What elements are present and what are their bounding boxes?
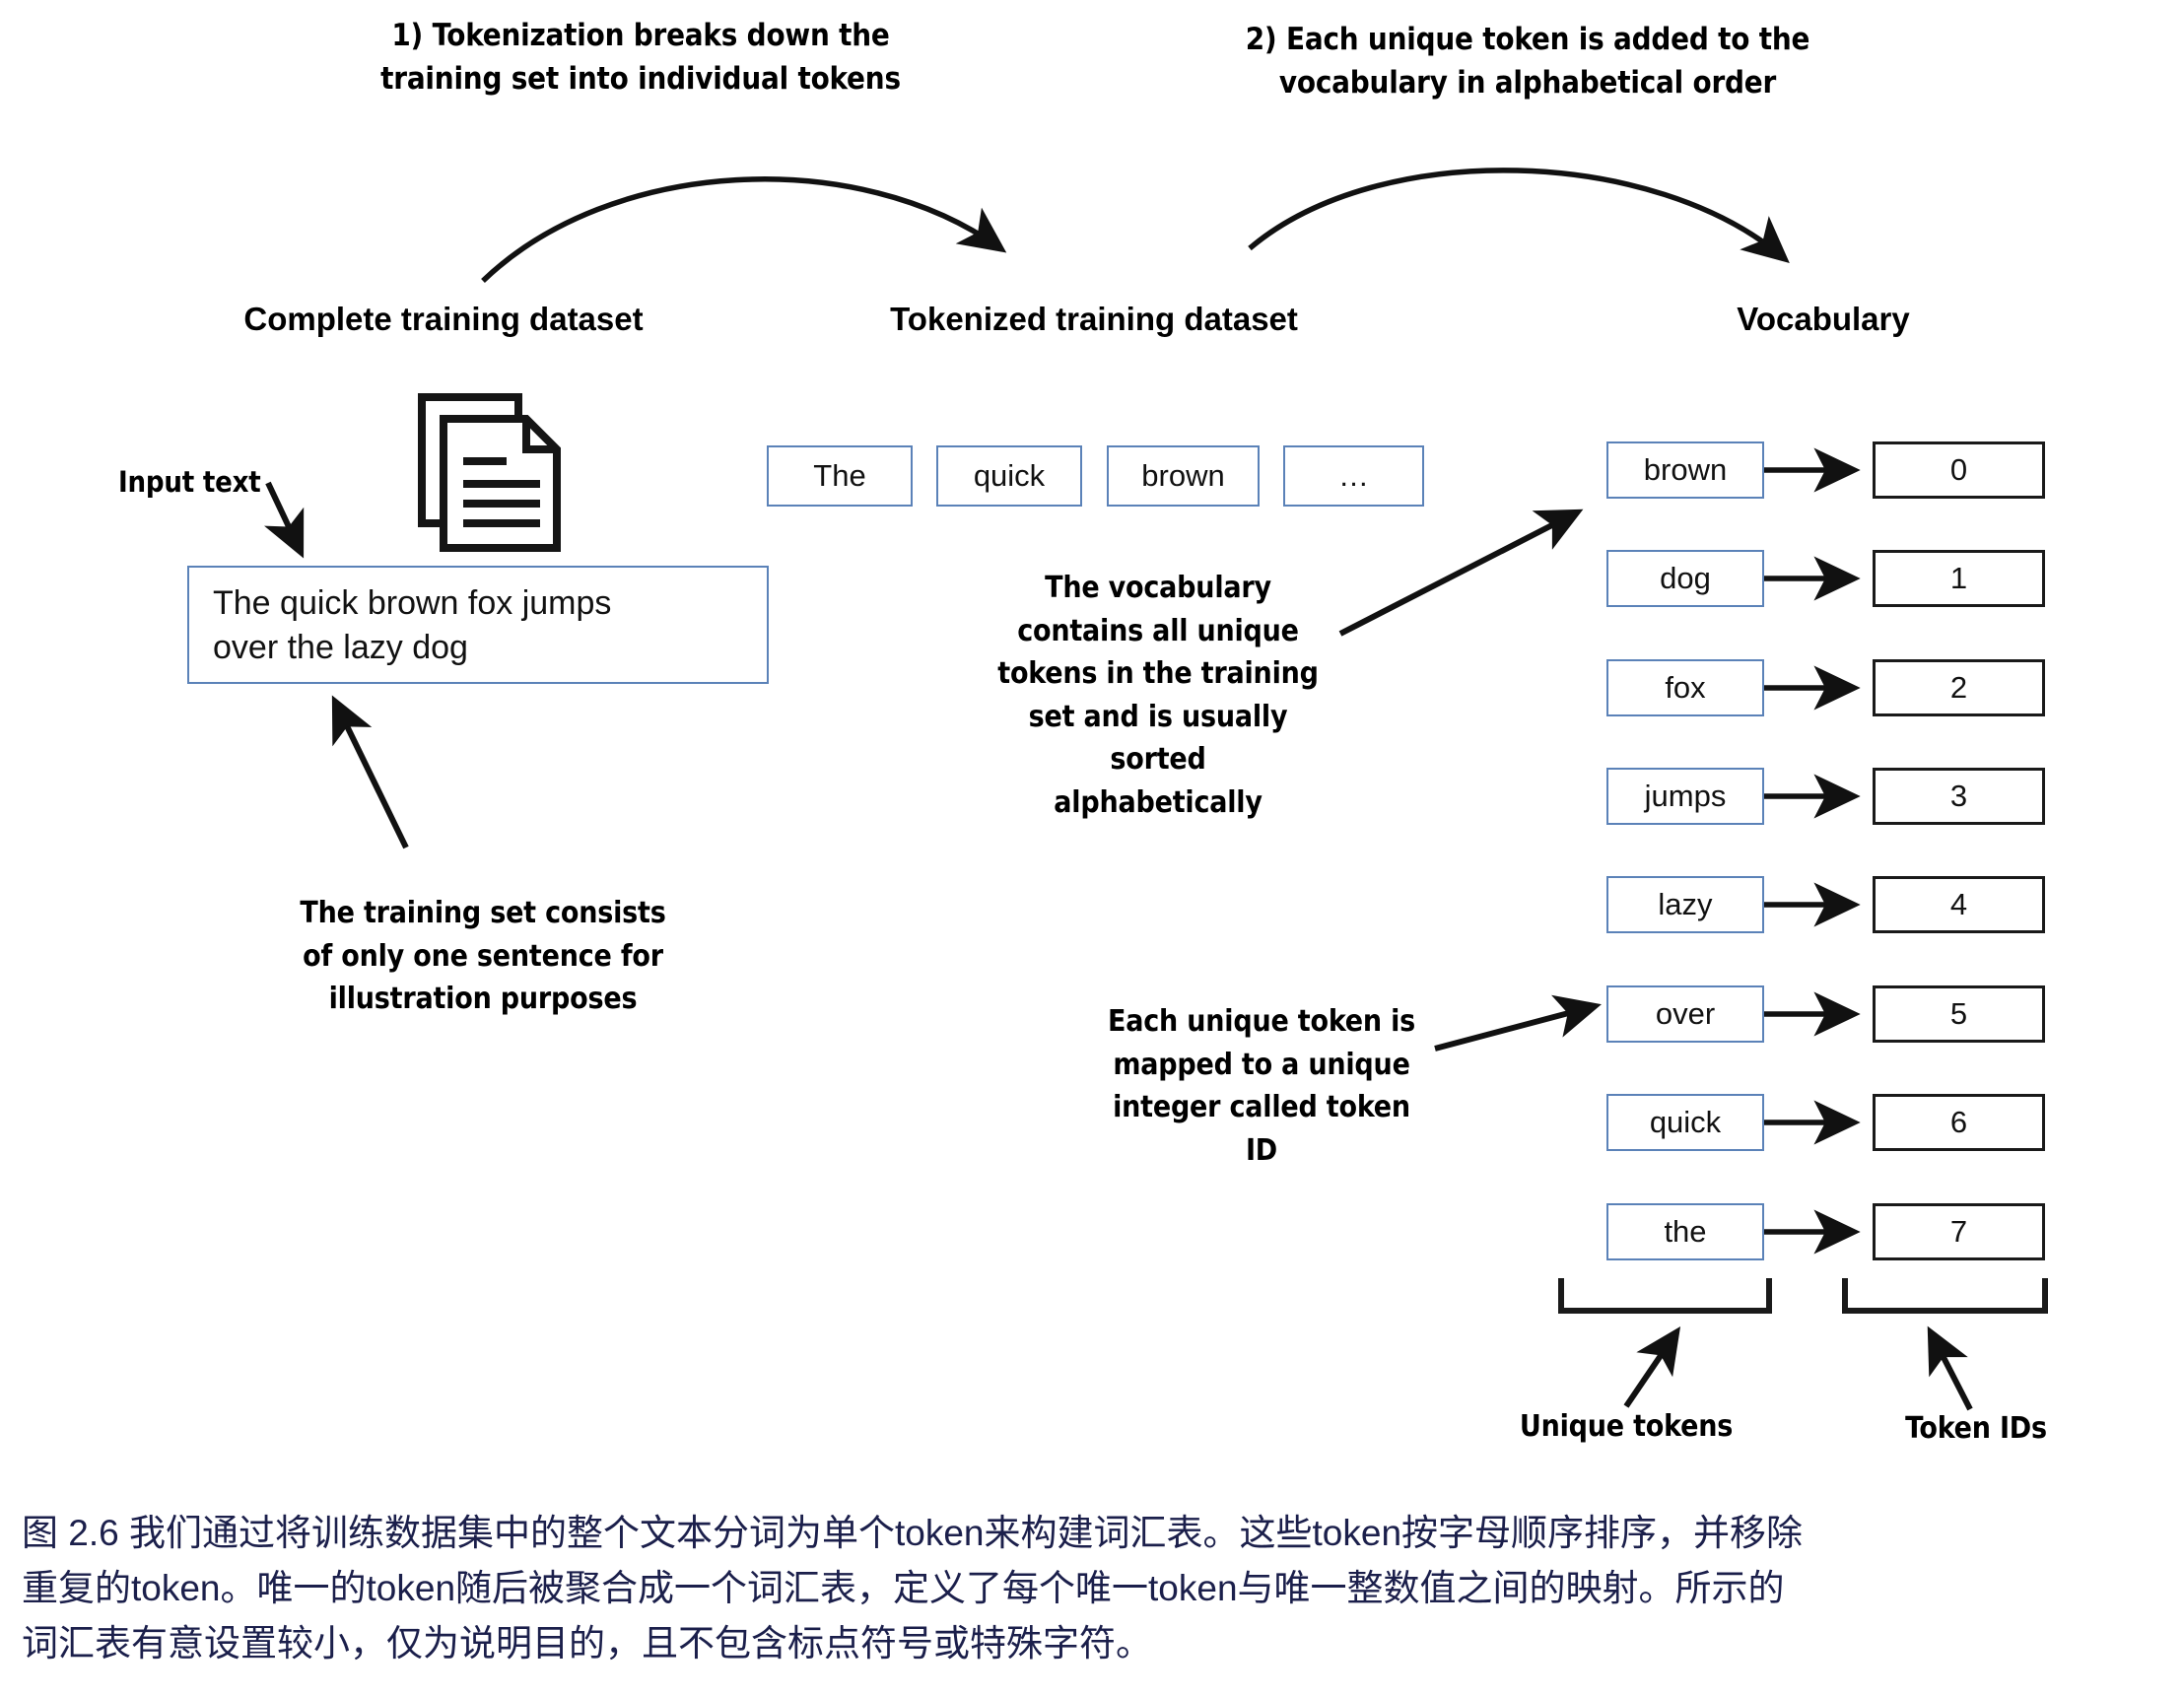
training-note-line-3: illustration purposes (246, 978, 719, 1021)
tokenid-note-line-1: Each unique token is (1069, 1000, 1454, 1044)
arrow-tokenid-note (1435, 1006, 1595, 1049)
vocab-token-6[interactable]: quick (1606, 1094, 1764, 1151)
training-note-line-1: The training set consists (246, 892, 719, 935)
step-1-line-2: training set into individual tokens (315, 57, 966, 101)
token-chip-2[interactable]: brown (1107, 445, 1260, 507)
input-text-line-1: The quick brown fox jumps (213, 581, 767, 626)
mapping-arrows (1764, 470, 1853, 1232)
figure-caption: 图 2.6 我们通过将训练数据集中的整个文本分词为单个token来构建词汇表。这… (22, 1506, 2170, 1672)
input-text-line-2: over the lazy dog (213, 626, 767, 670)
vocabulary-note: The vocabulary contains all unique token… (966, 567, 1350, 824)
vocab-token-2[interactable]: fox (1606, 659, 1764, 716)
tokenid-note-line-2: mapped to a unique (1069, 1044, 1454, 1087)
vocab-id-4[interactable]: 4 (1873, 876, 2045, 933)
bracket-token-ids (1845, 1278, 2045, 1311)
middle-column-title: Tokenized training dataset (788, 301, 1399, 338)
vocab-note-line-1: The vocabulary (966, 567, 1350, 610)
vocab-id-3[interactable]: 3 (1873, 768, 2045, 825)
tokenid-note-line-4: ID (1069, 1129, 1454, 1173)
vocab-id-6[interactable]: 6 (1873, 1094, 2045, 1151)
documents-icon (416, 392, 564, 555)
vocab-id-0[interactable]: 0 (1873, 441, 2045, 499)
caption-line-1: 图 2.6 我们通过将训练数据集中的整个文本分词为单个token来构建词汇表。这… (22, 1506, 2170, 1561)
vocab-note-line-5: sorted (966, 738, 1350, 781)
token-chip-3[interactable]: … (1283, 445, 1424, 507)
input-text-box[interactable]: The quick brown fox jumps over the lazy … (187, 566, 769, 684)
tokenid-note-line-3: integer called token (1069, 1086, 1454, 1129)
step-1-heading: 1) Tokenization breaks down the training… (315, 14, 966, 101)
vocab-token-7[interactable]: the (1606, 1203, 1764, 1260)
step-2-line-1: 2) Each unique token is added to the (1183, 18, 1873, 61)
step-2-heading: 2) Each unique token is added to the voc… (1183, 18, 1873, 104)
vocab-id-2[interactable]: 2 (1873, 659, 2045, 716)
vocab-id-5[interactable]: 5 (1873, 985, 2045, 1043)
token-id-note: Each unique token is mapped to a unique … (1069, 1000, 1454, 1172)
bracket-unique-tokens (1561, 1278, 1769, 1311)
vocab-note-line-4: set and is usually (966, 696, 1350, 739)
right-column-title: Vocabulary (1616, 301, 2030, 338)
vocab-note-line-6: alphabetically (966, 781, 1350, 825)
vocab-id-7[interactable]: 7 (1873, 1203, 2045, 1260)
caption-line-3: 词汇表有意设置较小，仅为说明目的，且不包含标点符号或特殊字符。 (22, 1616, 2170, 1671)
vocab-token-1[interactable]: dog (1606, 550, 1764, 607)
curved-arrow-step-1 (483, 179, 1000, 281)
unique-tokens-label: Unique tokens (1459, 1407, 1794, 1447)
token-ids-label: Token IDs (1843, 1409, 2109, 1449)
vocab-note-line-3: tokens in the training (966, 652, 1350, 696)
arrow-token-ids-label (1931, 1332, 1970, 1409)
diagram-canvas: 1) Tokenization breaks down the training… (0, 0, 2184, 1697)
training-note-line-2: of only one sentence for (246, 935, 719, 979)
token-chip-0[interactable]: The (767, 445, 913, 507)
step-2-line-2: vocabulary in alphabetical order (1183, 61, 1873, 104)
step-1-line-1: 1) Tokenization breaks down the (315, 14, 966, 57)
vocab-token-0[interactable]: brown (1606, 441, 1764, 499)
vocab-token-3[interactable]: jumps (1606, 768, 1764, 825)
vocab-token-4[interactable]: lazy (1606, 876, 1764, 933)
vocab-token-5[interactable]: over (1606, 985, 1764, 1043)
caption-line-2: 重复的token。唯一的token随后被聚合成一个词汇表，定义了每个唯一toke… (22, 1561, 2170, 1616)
vocab-id-1[interactable]: 1 (1873, 550, 2045, 607)
left-column-title: Complete training dataset (128, 301, 759, 338)
curved-arrow-step-2 (1250, 170, 1784, 258)
arrow-training-note (335, 702, 406, 848)
input-text-label: Input text (118, 463, 315, 502)
arrow-vocab-note (1340, 512, 1577, 634)
training-set-note: The training set consists of only one se… (246, 892, 719, 1021)
arrow-unique-tokens-label (1626, 1332, 1676, 1406)
token-chip-1[interactable]: quick (936, 445, 1082, 507)
vocab-note-line-2: contains all unique (966, 610, 1350, 653)
